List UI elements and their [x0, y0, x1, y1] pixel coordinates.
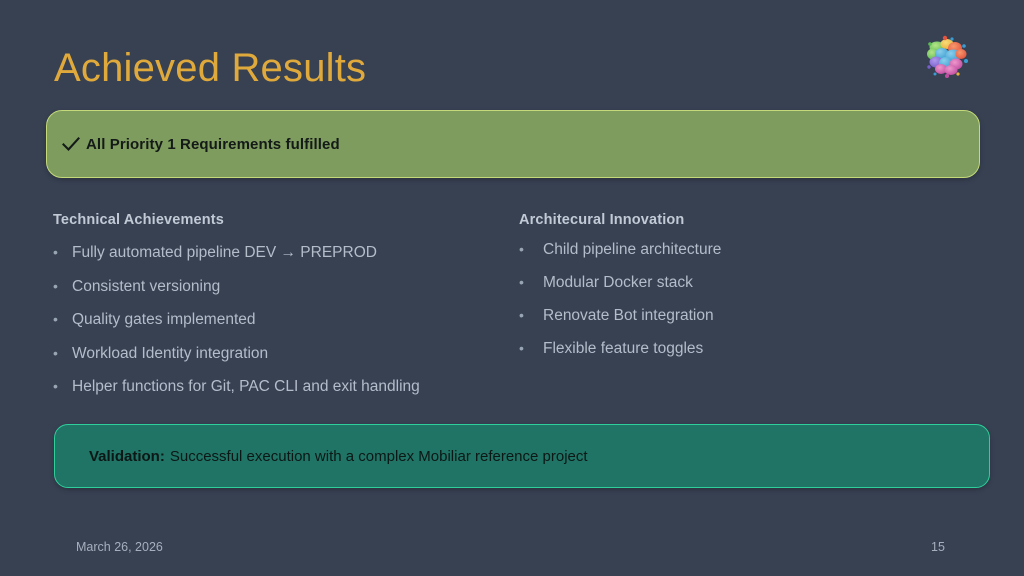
list-item: • Fully automated pipeline DEV → PREPROD	[53, 242, 503, 263]
list-item-label: Consistent versioning	[72, 277, 503, 297]
slide: Achieved Results	[0, 0, 1024, 576]
bullet-marker-icon: •	[53, 242, 72, 262]
validation-banner: Validation: Successful execution with a …	[54, 424, 990, 488]
bullet-marker-icon: •	[519, 338, 543, 358]
list-item: • Child pipeline architecture	[519, 239, 949, 260]
list-item: • Helper functions for Git, PAC CLI and …	[53, 376, 503, 397]
list-item: • Workload Identity integration	[53, 343, 503, 364]
list-item: • Consistent versioning	[53, 276, 503, 297]
list-item-label: Modular Docker stack	[543, 273, 949, 293]
list-item: • Flexible feature toggles	[519, 338, 949, 359]
list-item-label: Flexible feature toggles	[543, 339, 949, 359]
validation-text: Successful execution with a complex Mobi…	[170, 448, 588, 465]
list-item: • Quality gates implemented	[53, 309, 503, 330]
list-item-label: Helper functions for Git, PAC CLI and ex…	[72, 377, 503, 397]
footer-page-number: 15	[931, 540, 945, 554]
list-item-label: Workload Identity integration	[72, 344, 503, 364]
page-title: Achieved Results	[54, 44, 366, 92]
bullet-list-technical: • Fully automated pipeline DEV → PREPROD…	[53, 242, 503, 397]
list-item: • Renovate Bot integration	[519, 305, 949, 326]
colorful-molecule-logo	[921, 30, 973, 82]
success-banner: All Priority 1 Requirements fulfilled	[46, 110, 980, 178]
bullet-marker-icon: •	[53, 376, 72, 396]
bullet-marker-icon: •	[519, 239, 543, 259]
list-item: • Modular Docker stack	[519, 272, 949, 293]
list-item-label: Child pipeline architecture	[543, 240, 949, 260]
bullet-marker-icon: •	[53, 276, 72, 296]
bullet-list-architectural: • Child pipeline architecture • Modular …	[519, 239, 949, 359]
bullet-marker-icon: •	[519, 272, 543, 292]
column-technical-achievements: Technical Achievements • Fully automated…	[53, 212, 503, 410]
list-item-label: Quality gates implemented	[72, 310, 503, 330]
bullet-marker-icon: •	[519, 305, 543, 325]
validation-label: Validation:	[89, 448, 165, 465]
list-item-label: Renovate Bot integration	[543, 306, 949, 326]
column-architectural-innovation: Architecural Innovation • Child pipeline…	[519, 212, 949, 371]
column-heading-architectural: Architecural Innovation	[519, 212, 949, 228]
footer-date: March 26, 2026	[76, 540, 163, 554]
list-item-label: Fully automated pipeline DEV → PREPROD	[72, 243, 503, 263]
success-banner-text: All Priority 1 Requirements fulfilled	[86, 136, 340, 153]
column-heading-technical: Technical Achievements	[53, 212, 503, 228]
bullet-marker-icon: •	[53, 343, 72, 363]
check-icon	[59, 132, 83, 156]
bullet-marker-icon: •	[53, 309, 72, 329]
